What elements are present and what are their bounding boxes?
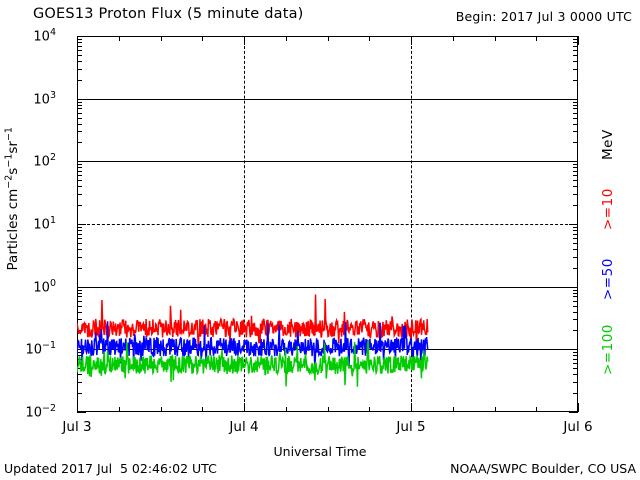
page-title: GOES13 Proton Flux (5 minute data) — [33, 6, 304, 22]
y-axis-title: Particles cm−2s−1sr−1 — [3, 19, 21, 379]
legend-unit: MeV — [600, 129, 616, 160]
plot-area — [77, 36, 578, 412]
x-axis-tick-label: Jul 5 — [371, 419, 451, 435]
legend-entry-1: >=50 — [600, 258, 616, 300]
y-axis-tick-major — [569, 412, 578, 413]
begin-time-label: Begin: 2017 Jul 3 0000 UTC — [456, 9, 632, 24]
y-axis-tick-major — [77, 412, 86, 413]
x-axis-tick-label: Jul 6 — [538, 419, 618, 435]
y-axis-tick-label: 10−1 — [25, 340, 56, 357]
chart-page: GOES13 Proton Flux (5 minute data) Begin… — [0, 0, 640, 480]
data-traces — [77, 36, 578, 412]
x-axis-title: Universal Time — [0, 444, 640, 459]
x-axis-tick-label: Jul 3 — [37, 419, 117, 435]
x-axis-tick-major — [578, 403, 579, 412]
y-axis-tick-label: 102 — [33, 152, 56, 169]
legend-entry-2: >=100 — [600, 324, 616, 375]
y-axis-tick-label: 10−2 — [25, 403, 56, 420]
updated-timestamp: Updated 2017 Jul 5 02:46:02 UTC — [4, 461, 217, 476]
y-axis-tick-label: 100 — [33, 278, 56, 295]
x-axis-tick-major — [578, 36, 579, 45]
y-axis-tick-label: 103 — [33, 90, 56, 107]
x-axis-tick-label: Jul 4 — [204, 419, 284, 435]
agency-label: NOAA/SWPC Boulder, CO USA — [450, 461, 636, 476]
legend-entry-0: >=10 — [600, 188, 616, 230]
y-axis-tick-label: 104 — [33, 27, 56, 44]
y-axis-tick-label: 101 — [33, 215, 56, 232]
